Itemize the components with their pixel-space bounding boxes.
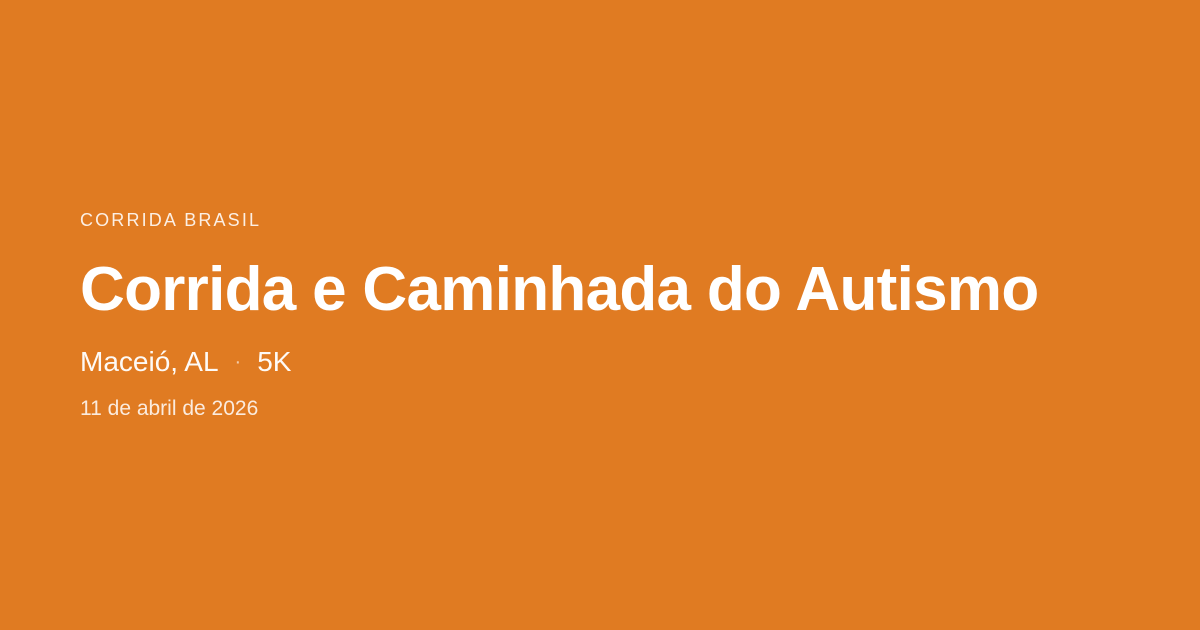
event-meta-line: Maceió, AL · 5K [80,348,1120,376]
hero-text-block: CORRIDA BRASIL Corrida e Caminhada do Au… [80,211,1120,420]
event-distance: 5K [257,348,291,376]
brand-eyebrow: CORRIDA BRASIL [80,211,1120,229]
event-title: Corrida e Caminhada do Autismo [80,257,1120,323]
event-location: Maceió, AL [80,348,219,376]
event-hero-banner: CORRIDA BRASIL Corrida e Caminhada do Au… [0,0,1200,630]
event-date: 11 de abril de 2026 [80,398,1120,419]
meta-separator-dot: · [235,352,242,372]
